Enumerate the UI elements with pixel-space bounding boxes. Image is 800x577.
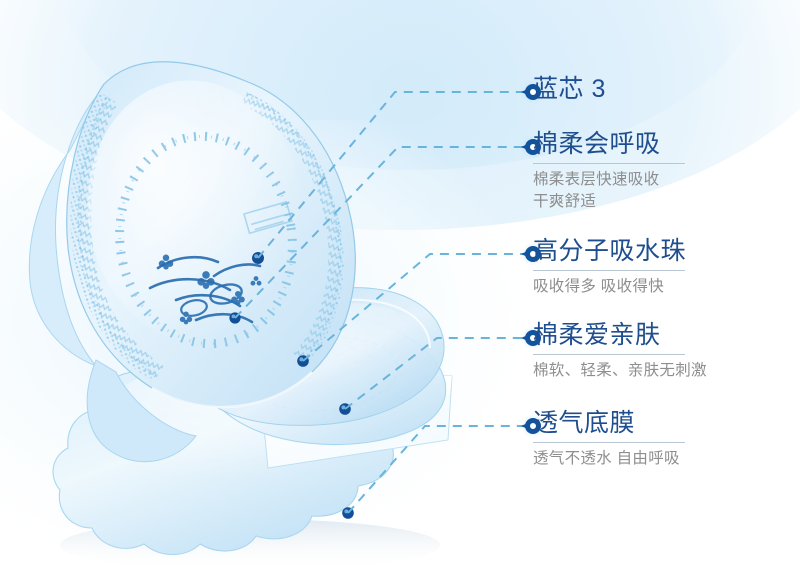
feature-subtitle-line2: 干爽舒适 bbox=[533, 191, 685, 213]
connector-line-4 bbox=[345, 338, 531, 409]
feature-divider bbox=[533, 354, 685, 355]
feature-item-3: 高分子吸水珠吸收得多 吸收得快 bbox=[533, 238, 686, 298]
feature-title: 透气底膜 bbox=[533, 410, 685, 437]
feature-divider bbox=[533, 270, 685, 271]
connector-line-1 bbox=[258, 92, 531, 258]
feature-divider bbox=[533, 163, 685, 164]
feature-subtitle: 棉柔表层快速吸收 bbox=[533, 169, 685, 191]
feature-item-5: 透气底膜透气不透水 自由呼吸 bbox=[533, 410, 685, 470]
feature-divider bbox=[533, 442, 685, 443]
connector-line-5 bbox=[348, 426, 531, 513]
feature-subtitle: 吸收得多 吸收得快 bbox=[533, 276, 686, 298]
feature-subtitle: 棉软、轻柔、亲肤无刺激 bbox=[533, 360, 707, 382]
feature-title: 棉柔爱亲肤 bbox=[533, 322, 707, 349]
connector-line-3 bbox=[303, 254, 531, 361]
feature-item-1: 蓝芯 3 bbox=[533, 76, 606, 103]
feature-list: 蓝芯 3棉柔会呼吸棉柔表层快速吸收干爽舒适高分子吸水珠吸收得多 吸收得快棉柔爱亲… bbox=[533, 0, 800, 577]
infographic-canvas: 蓝芯 3棉柔会呼吸棉柔表层快速吸收干爽舒适高分子吸水珠吸收得多 吸收得快棉柔爱亲… bbox=[0, 0, 800, 577]
feature-title: 高分子吸水珠 bbox=[533, 238, 686, 265]
feature-item-4: 棉柔爱亲肤棉软、轻柔、亲肤无刺激 bbox=[533, 322, 707, 382]
feature-subtitle: 透气不透水 自由呼吸 bbox=[533, 448, 685, 470]
feature-item-2: 棉柔会呼吸棉柔表层快速吸收干爽舒适 bbox=[533, 131, 685, 213]
feature-title: 棉柔会呼吸 bbox=[533, 131, 685, 158]
feature-title: 蓝芯 3 bbox=[533, 76, 606, 103]
